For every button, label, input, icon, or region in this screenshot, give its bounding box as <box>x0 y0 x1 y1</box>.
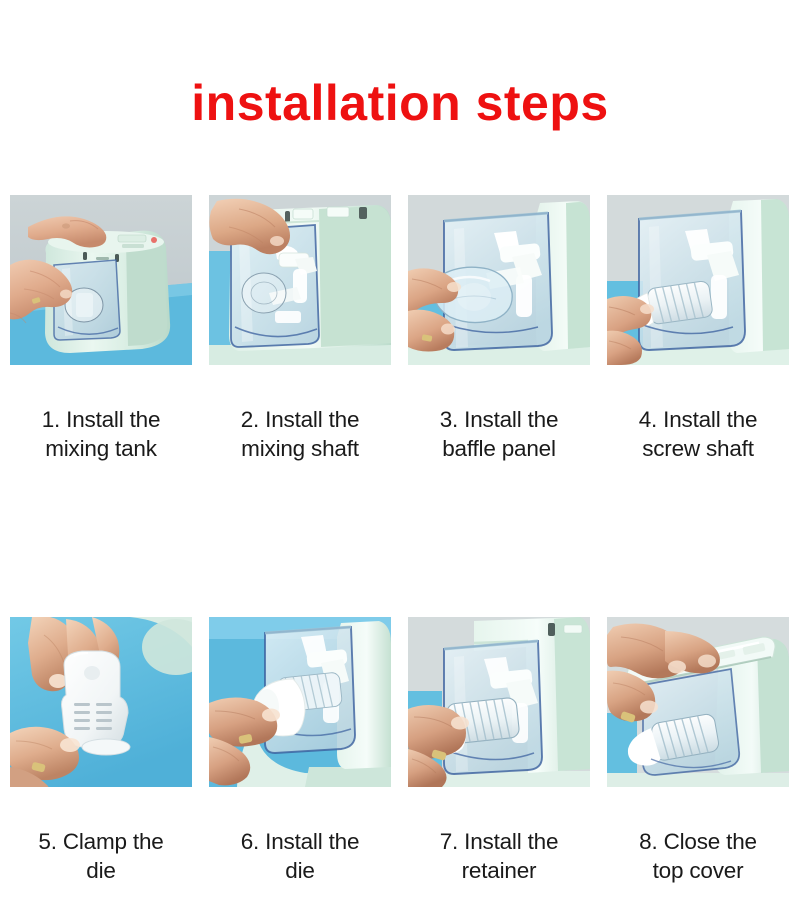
step-card-3: 3. Install the baffle panel <box>408 195 590 492</box>
step-caption-3-line1: 3. Install the <box>440 407 559 432</box>
step-caption-7-line1: 7. Install the <box>440 829 559 854</box>
step-caption-7: 7. Install the retainer <box>408 799 590 914</box>
step-2-photo-install-mixing-shaft <box>209 195 391 365</box>
step-caption-8: 8. Close the top cover <box>607 799 789 914</box>
step-5-photo-clamp-the-die <box>10 617 192 787</box>
step-1-photo-install-mixing-tank <box>10 195 192 365</box>
step-card-6: 6. Install the die <box>209 617 391 914</box>
step-caption-4-line1: 4. Install the <box>639 407 758 432</box>
step-card-7: 7. Install the retainer <box>408 617 590 914</box>
step-caption-3-line2: baffle panel <box>408 435 590 464</box>
row-spacer <box>10 492 789 617</box>
step-card-4: 4. Install the screw shaft <box>607 195 789 492</box>
step-8-photo-close-top-cover <box>607 617 789 787</box>
step-caption-5: 5. Clamp the die <box>10 799 192 914</box>
step-caption-5-line2: die <box>10 857 192 886</box>
page-title: installation steps <box>0 78 800 128</box>
step-caption-4-line2: screw shaft <box>607 435 789 464</box>
installation-steps-page: installation steps <box>0 0 800 800</box>
step-caption-4: 4. Install the screw shaft <box>607 377 789 492</box>
step-3-photo-install-baffle-panel <box>408 195 590 365</box>
step-caption-2-line1: 2. Install the <box>241 407 360 432</box>
step-7-photo-install-retainer <box>408 617 590 787</box>
step-6-photo-install-the-die <box>209 617 391 787</box>
step-caption-1-line2: mixing tank <box>10 435 192 464</box>
step-card-2: 2. Install the mixing shaft <box>209 195 391 492</box>
step-caption-1-line1: 1. Install the <box>42 407 161 432</box>
step-caption-5-line1: 5. Clamp the <box>38 829 163 854</box>
step-card-5: 5. Clamp the die <box>10 617 192 914</box>
step-caption-6-line2: die <box>209 857 391 886</box>
step-caption-2-line2: mixing shaft <box>209 435 391 464</box>
steps-grid: 1. Install the mixing tank <box>10 195 790 914</box>
step-caption-6: 6. Install the die <box>209 799 391 914</box>
step-caption-7-line2: retainer <box>408 857 590 886</box>
step-caption-8-line2: top cover <box>607 857 789 886</box>
step-caption-1: 1. Install the mixing tank <box>10 377 192 492</box>
step-card-8: 8. Close the top cover <box>607 617 789 914</box>
step-caption-6-line1: 6. Install the <box>241 829 360 854</box>
step-card-1: 1. Install the mixing tank <box>10 195 192 492</box>
step-caption-8-line1: 8. Close the <box>639 829 757 854</box>
step-caption-2: 2. Install the mixing shaft <box>209 377 391 492</box>
step-4-photo-install-screw-shaft <box>607 195 789 365</box>
step-caption-3: 3. Install the baffle panel <box>408 377 590 492</box>
